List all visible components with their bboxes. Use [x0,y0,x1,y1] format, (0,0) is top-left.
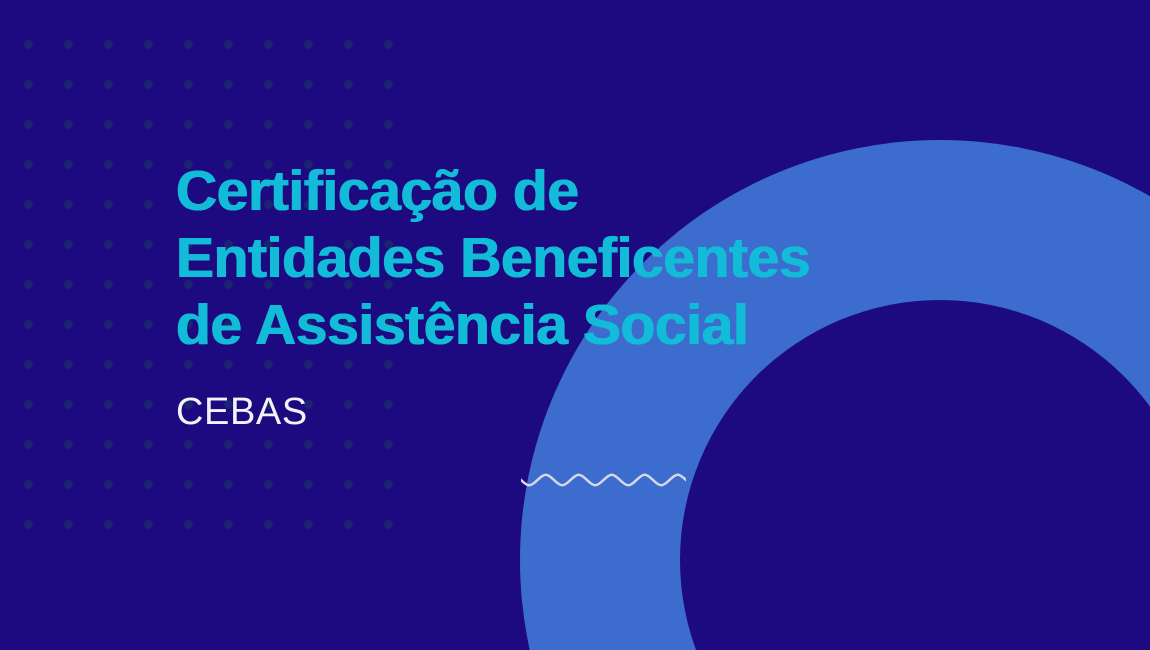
grid-dot [64,240,73,249]
grid-dot [184,80,193,89]
grid-dot [24,200,33,209]
grid-dot [304,520,313,529]
grid-dot [24,320,33,329]
grid-dot [64,320,73,329]
grid-dot [144,80,153,89]
grid-dot [64,480,73,489]
grid-dot [24,160,33,169]
grid-dot [104,480,113,489]
grid-dot [64,160,73,169]
grid-dot [24,80,33,89]
grid-dot [264,80,273,89]
grid-dot [64,40,73,49]
wave-squiggle-icon [521,464,686,496]
grid-dot [64,80,73,89]
grid-dot [104,400,113,409]
grid-dot [104,520,113,529]
grid-dot [104,120,113,129]
grid-dot [64,280,73,289]
grid-dot [224,440,233,449]
grid-dot [344,520,353,529]
grid-dot [64,520,73,529]
grid-dot [24,360,33,369]
grid-dot [224,480,233,489]
grid-dot [104,360,113,369]
grid-dot [224,40,233,49]
page-subtitle: CEBAS [176,390,936,434]
grid-dot [144,520,153,529]
grid-dot [304,480,313,489]
grid-dot [144,160,153,169]
grid-dot [344,80,353,89]
grid-dot [104,280,113,289]
slide-canvas: Certificação de Entidades Beneficentes d… [0,0,1150,650]
grid-dot [104,240,113,249]
grid-dot [24,240,33,249]
grid-dot [144,480,153,489]
grid-dot [24,40,33,49]
grid-dot [264,480,273,489]
grid-dot [384,120,393,129]
grid-dot [304,120,313,129]
grid-dot [384,40,393,49]
grid-dot [64,120,73,129]
grid-dot [344,120,353,129]
grid-dot [104,160,113,169]
grid-dot [144,320,153,329]
grid-dot [224,520,233,529]
grid-dot [24,280,33,289]
grid-dot [264,440,273,449]
grid-dot [224,120,233,129]
grid-dot [64,360,73,369]
grid-dot [104,200,113,209]
title-block: Certificação de Entidades Beneficentes d… [176,158,936,434]
grid-dot [104,440,113,449]
grid-dot [24,440,33,449]
grid-dot [264,520,273,529]
grid-dot [104,320,113,329]
grid-dot [144,440,153,449]
grid-dot [304,440,313,449]
grid-dot [144,200,153,209]
grid-dot [144,280,153,289]
grid-dot [144,400,153,409]
grid-dot [304,80,313,89]
grid-dot [344,440,353,449]
grid-dot [304,40,313,49]
grid-dot [144,360,153,369]
grid-dot [104,80,113,89]
grid-dot [24,400,33,409]
grid-dot [104,40,113,49]
grid-dot [384,440,393,449]
grid-dot [24,120,33,129]
grid-dot [344,40,353,49]
grid-dot [264,40,273,49]
grid-dot [264,120,273,129]
grid-dot [384,520,393,529]
grid-dot [64,440,73,449]
grid-dot [144,120,153,129]
grid-dot [144,40,153,49]
grid-dot [184,440,193,449]
page-title: Certificação de Entidades Beneficentes d… [176,158,936,359]
grid-dot [184,480,193,489]
grid-dot [184,520,193,529]
grid-dot [184,40,193,49]
grid-dot [184,120,193,129]
grid-dot [64,200,73,209]
grid-dot [24,480,33,489]
grid-dot [384,480,393,489]
grid-dot [24,520,33,529]
grid-dot [144,240,153,249]
grid-dot [224,80,233,89]
grid-dot [344,480,353,489]
grid-dot [384,80,393,89]
grid-dot [64,400,73,409]
